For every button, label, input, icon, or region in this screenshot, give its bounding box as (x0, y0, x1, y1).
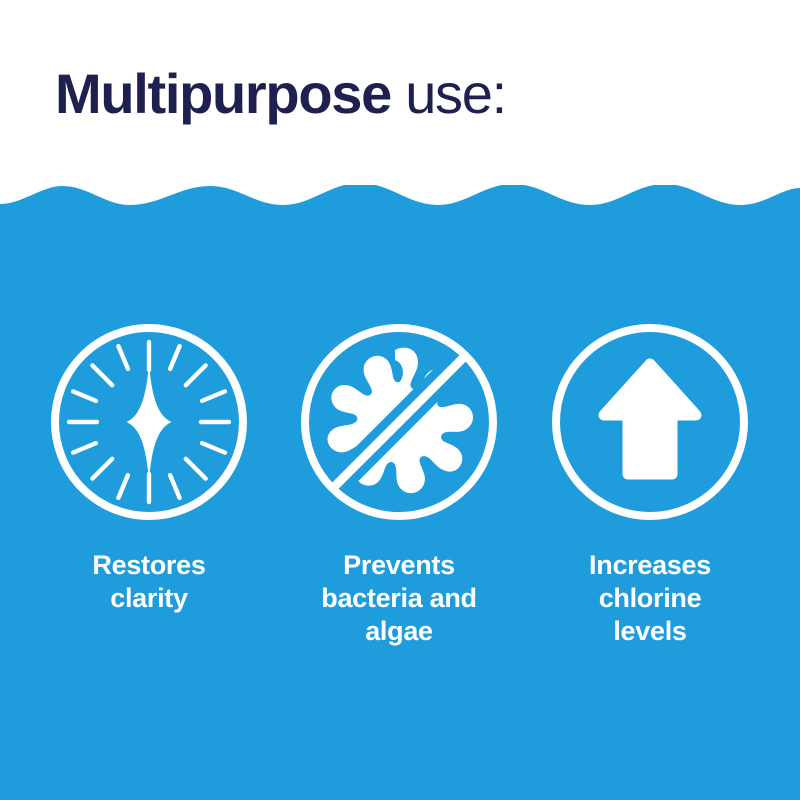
page-title: Multipurpose use: (55, 62, 506, 126)
feature-label-line: chlorine (589, 582, 711, 615)
feature-label: Increases chlorine levels (589, 549, 711, 648)
multipurpose-use-poster: Multipurpose use: (0, 0, 800, 800)
up-arrow-icon (550, 322, 750, 522)
header: Multipurpose use: (0, 0, 800, 185)
feature-label-line: bacteria and (321, 582, 476, 615)
feature-restores-clarity: Restores clarity (24, 322, 274, 615)
feature-label: Prevents bacteria and algae (321, 549, 476, 648)
feature-label-line: clarity (92, 582, 205, 615)
feature-label-line: levels (589, 615, 711, 648)
no-bacteria-icon (299, 322, 499, 522)
feature-increases-chlorine: Increases chlorine levels (525, 322, 775, 648)
feature-label: Restores clarity (92, 549, 205, 615)
sparkle-clarity-icon (49, 322, 249, 522)
feature-label-line: Prevents (321, 549, 476, 582)
feature-label-line: algae (321, 615, 476, 648)
page-title-bold: Multipurpose (55, 62, 391, 125)
feature-prevents-bacteria: Prevents bacteria and algae (274, 322, 524, 648)
feature-label-line: Restores (92, 549, 205, 582)
page-title-light: use: (391, 62, 506, 125)
feature-label-line: Increases (589, 549, 711, 582)
feature-list: Restores clarity (0, 322, 800, 648)
